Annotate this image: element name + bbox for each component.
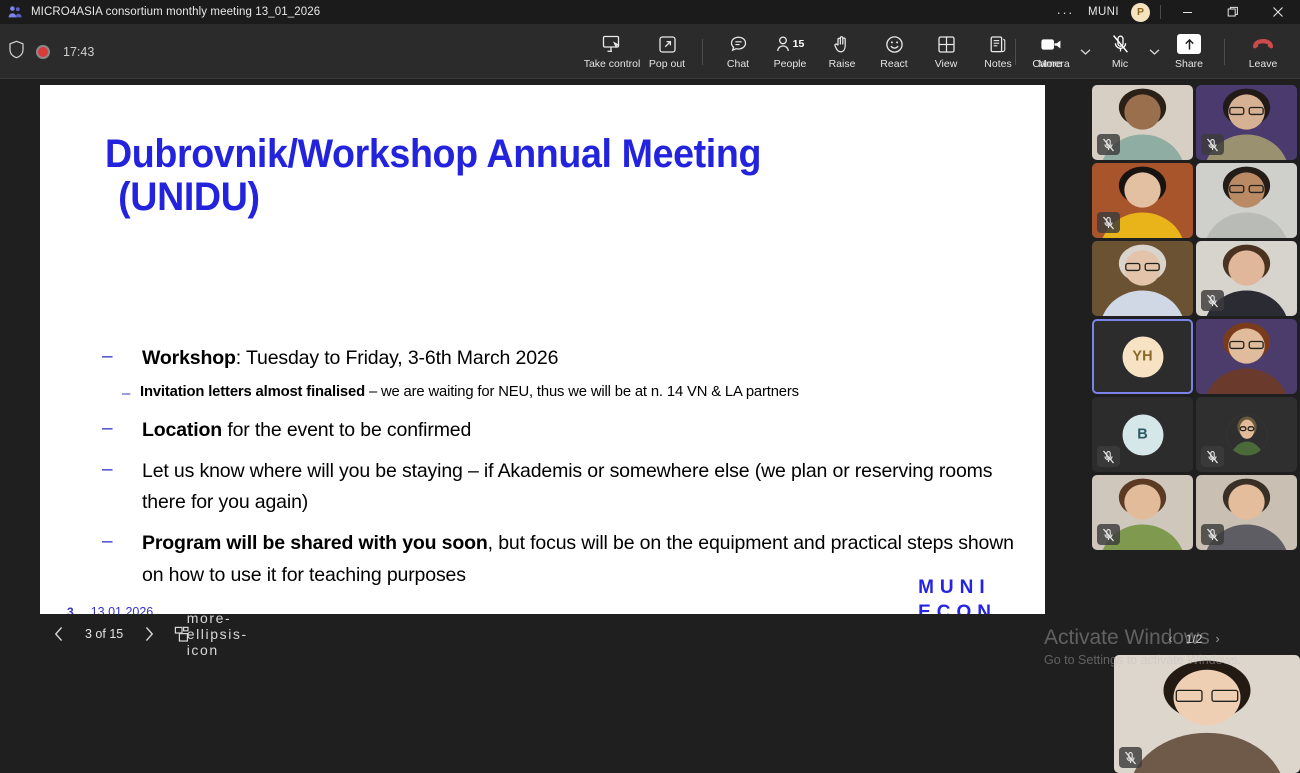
window-title: MICRO4ASIA consortium monthly meeting 13… bbox=[31, 6, 320, 18]
mic-muted-badge bbox=[1097, 524, 1120, 545]
camera-icon bbox=[1040, 34, 1062, 55]
take-control-icon bbox=[602, 34, 622, 55]
raise-label: Raise bbox=[829, 58, 856, 70]
people-button[interactable]: 15 People bbox=[764, 27, 816, 76]
mic-muted-badge bbox=[1201, 290, 1224, 311]
participant-video-feed bbox=[1196, 163, 1297, 238]
chat-label: Chat bbox=[727, 58, 749, 70]
view-grid-icon bbox=[937, 34, 956, 55]
bullet-text: Program will be shared with you soon, bu… bbox=[142, 528, 1030, 591]
window-controls: ··· MUNI P bbox=[1049, 0, 1300, 24]
react-button[interactable]: React bbox=[868, 27, 920, 76]
share-button[interactable]: Share bbox=[1163, 27, 1215, 76]
toolbar-center-group: Take control Pop out Chat bbox=[583, 24, 1076, 79]
participant-avatar-photo bbox=[1226, 414, 1267, 455]
slide-title: Dubrovnik/Workshop Annual Meeting (UNIDU… bbox=[105, 133, 885, 219]
shield-icon[interactable] bbox=[8, 40, 25, 64]
mic-muted-badge bbox=[1201, 524, 1224, 545]
toolbar-divider-2 bbox=[1015, 39, 1016, 65]
notes-icon bbox=[989, 34, 1007, 55]
participant-avatar-initials: YH bbox=[1122, 336, 1163, 377]
toolbar-divider-1 bbox=[702, 39, 703, 65]
participant-tile[interactable]: B bbox=[1092, 397, 1193, 472]
bullet-text: Location for the event to be confirmed bbox=[142, 415, 1030, 447]
roster-next-page-button[interactable]: › bbox=[1215, 631, 1219, 646]
bullet-dash-icon: – bbox=[100, 415, 142, 438]
bullet-item: – Workshop: Tuesday to Friday, 3-6th Mar… bbox=[100, 343, 1030, 375]
participant-tile[interactable] bbox=[1196, 163, 1297, 238]
bullet-item: – Invitation letters almost finalised – … bbox=[100, 384, 1030, 402]
take-control-label: Take control bbox=[584, 58, 641, 70]
bullet-bold: Invitation letters almost finalised bbox=[140, 384, 365, 400]
participant-tile[interactable] bbox=[1196, 397, 1297, 472]
people-icon: 15 bbox=[776, 34, 805, 55]
titlebar-divider bbox=[1160, 5, 1161, 19]
roster-prev-page-button[interactable]: ‹ bbox=[1168, 631, 1172, 646]
toolbar-left-group: 17:43 bbox=[8, 24, 94, 79]
pop-out-icon bbox=[658, 34, 677, 55]
view-button[interactable]: View bbox=[920, 27, 972, 76]
roster-page-counter: 1/2 bbox=[1186, 632, 1203, 646]
participant-tile[interactable] bbox=[1196, 475, 1297, 550]
slide-navigation-bar: 3 of 15 more-ellipsis-icon bbox=[0, 614, 1088, 654]
bullet-rest: Let us know where will you be staying – … bbox=[142, 460, 992, 514]
raise-hand-icon bbox=[833, 34, 851, 55]
participant-video-feed bbox=[1092, 241, 1193, 316]
pop-out-label: Pop out bbox=[649, 58, 685, 70]
bullet-dash-icon: – bbox=[100, 384, 140, 401]
participant-grid: YHB bbox=[1092, 85, 1300, 550]
roster-pagination: ‹ 1/2 › bbox=[1088, 631, 1300, 646]
participant-tile[interactable] bbox=[1092, 241, 1193, 316]
slide-title-line-2: (UNIDU) bbox=[105, 176, 885, 219]
share-screen-icon bbox=[1177, 34, 1201, 55]
react-smiley-icon bbox=[885, 34, 904, 55]
org-label: MUNI bbox=[1082, 6, 1125, 18]
recording-dot-icon bbox=[36, 45, 50, 59]
spotlight-participant-tile[interactable] bbox=[1114, 655, 1300, 773]
mic-label: Mic bbox=[1112, 58, 1128, 70]
bullet-rest: : Tuesday to Friday, 3-6th March 2026 bbox=[236, 347, 559, 369]
teams-people-icon bbox=[7, 4, 23, 20]
participant-tile[interactable] bbox=[1196, 319, 1297, 394]
participant-tile[interactable] bbox=[1092, 475, 1193, 550]
mic-button[interactable]: Mic bbox=[1094, 27, 1146, 76]
bullet-item: – Program will be shared with you soon, … bbox=[100, 528, 1030, 591]
presentation-slide[interactable]: Dubrovnik/Workshop Annual Meeting (UNIDU… bbox=[40, 85, 1045, 647]
mic-muted-icon bbox=[1111, 34, 1130, 55]
bullet-dash-icon: – bbox=[100, 456, 142, 479]
bullet-item: – Let us know where will you be staying … bbox=[100, 456, 1030, 519]
react-label: React bbox=[880, 58, 907, 70]
participant-tile[interactable] bbox=[1092, 163, 1193, 238]
bullet-text: Invitation letters almost finalised – we… bbox=[140, 384, 1030, 402]
toolbar-right-group: Camera Mic bbox=[1006, 24, 1292, 79]
chat-button[interactable]: Chat bbox=[712, 27, 764, 76]
toolbar-divider-3 bbox=[1224, 39, 1225, 65]
meeting-toolbar: 17:43 Take control Pop bbox=[0, 24, 1300, 79]
camera-button[interactable]: Camera bbox=[1025, 27, 1077, 76]
close-button[interactable] bbox=[1255, 0, 1300, 24]
mic-chevron-down-icon[interactable] bbox=[1146, 32, 1163, 72]
bullet-item: – Location for the event to be confirmed bbox=[100, 415, 1030, 447]
chat-icon bbox=[729, 34, 748, 55]
next-slide-button[interactable] bbox=[134, 619, 164, 649]
previous-slide-button[interactable] bbox=[44, 619, 74, 649]
leave-label: Leave bbox=[1249, 58, 1278, 70]
people-count: 15 bbox=[793, 38, 805, 50]
mic-muted-badge bbox=[1097, 212, 1120, 233]
camera-chevron-down-icon[interactable] bbox=[1077, 32, 1094, 72]
participant-tile[interactable] bbox=[1092, 85, 1193, 160]
pop-out-button[interactable]: Pop out bbox=[641, 27, 693, 76]
mic-muted-badge bbox=[1097, 446, 1120, 467]
mic-muted-badge bbox=[1201, 446, 1224, 467]
slide-bullet-list: – Workshop: Tuesday to Friday, 3-6th Mar… bbox=[100, 343, 1030, 647]
mic-muted-badge bbox=[1097, 134, 1120, 155]
bullet-bold: Location bbox=[142, 419, 222, 441]
bullet-text: Workshop: Tuesday to Friday, 3-6th March… bbox=[142, 343, 1030, 375]
bullet-text: Let us know where will you be staying – … bbox=[142, 456, 1030, 519]
slide-counter: 3 of 15 bbox=[78, 627, 130, 641]
titlebar-overflow-button[interactable]: ··· bbox=[1049, 6, 1083, 19]
bullet-bold: Workshop bbox=[142, 347, 236, 369]
minimize-button[interactable] bbox=[1165, 0, 1210, 24]
leave-button[interactable]: Leave bbox=[1234, 27, 1292, 76]
slide-more-options-button[interactable]: more-ellipsis-icon bbox=[202, 619, 232, 649]
mic-muted-badge bbox=[1119, 747, 1142, 768]
slide-title-line-1: Dubrovnik/Workshop Annual Meeting bbox=[105, 132, 761, 176]
mic-muted-badge bbox=[1201, 134, 1224, 155]
logo-line-1: MUNI bbox=[918, 576, 997, 600]
participant-video-feed bbox=[1196, 319, 1297, 394]
participant-roster: YHB ‹ 1/2 › bbox=[1088, 79, 1300, 694]
participant-avatar-initials: B bbox=[1122, 414, 1163, 455]
take-control-button[interactable]: Take control bbox=[583, 27, 641, 76]
share-label: Share bbox=[1175, 58, 1203, 70]
window-title-bar: MICRO4ASIA consortium monthly meeting 13… bbox=[0, 0, 1300, 24]
bullet-rest: – we are waiting for NEU, thus we will b… bbox=[365, 384, 799, 400]
participant-tile[interactable]: YH bbox=[1092, 319, 1193, 394]
bullet-rest: for the event to be confirmed bbox=[222, 419, 471, 441]
view-label: View bbox=[935, 58, 958, 70]
maximize-restore-button[interactable] bbox=[1210, 0, 1255, 24]
participant-tile[interactable] bbox=[1196, 241, 1297, 316]
meeting-timer: 17:43 bbox=[63, 45, 94, 59]
bullet-dash-icon: – bbox=[100, 528, 142, 551]
hang-up-icon bbox=[1251, 34, 1275, 55]
participant-tile[interactable] bbox=[1196, 85, 1297, 160]
bullet-bold: Program will be shared with you soon bbox=[142, 532, 488, 554]
raise-hand-button[interactable]: Raise bbox=[816, 27, 868, 76]
user-avatar[interactable]: P bbox=[1131, 3, 1150, 22]
bullet-dash-icon: – bbox=[100, 343, 142, 366]
shared-content-stage: Dubrovnik/Workshop Annual Meeting (UNIDU… bbox=[0, 79, 1088, 654]
people-label: People bbox=[774, 58, 807, 70]
camera-label: Camera bbox=[1032, 58, 1069, 70]
